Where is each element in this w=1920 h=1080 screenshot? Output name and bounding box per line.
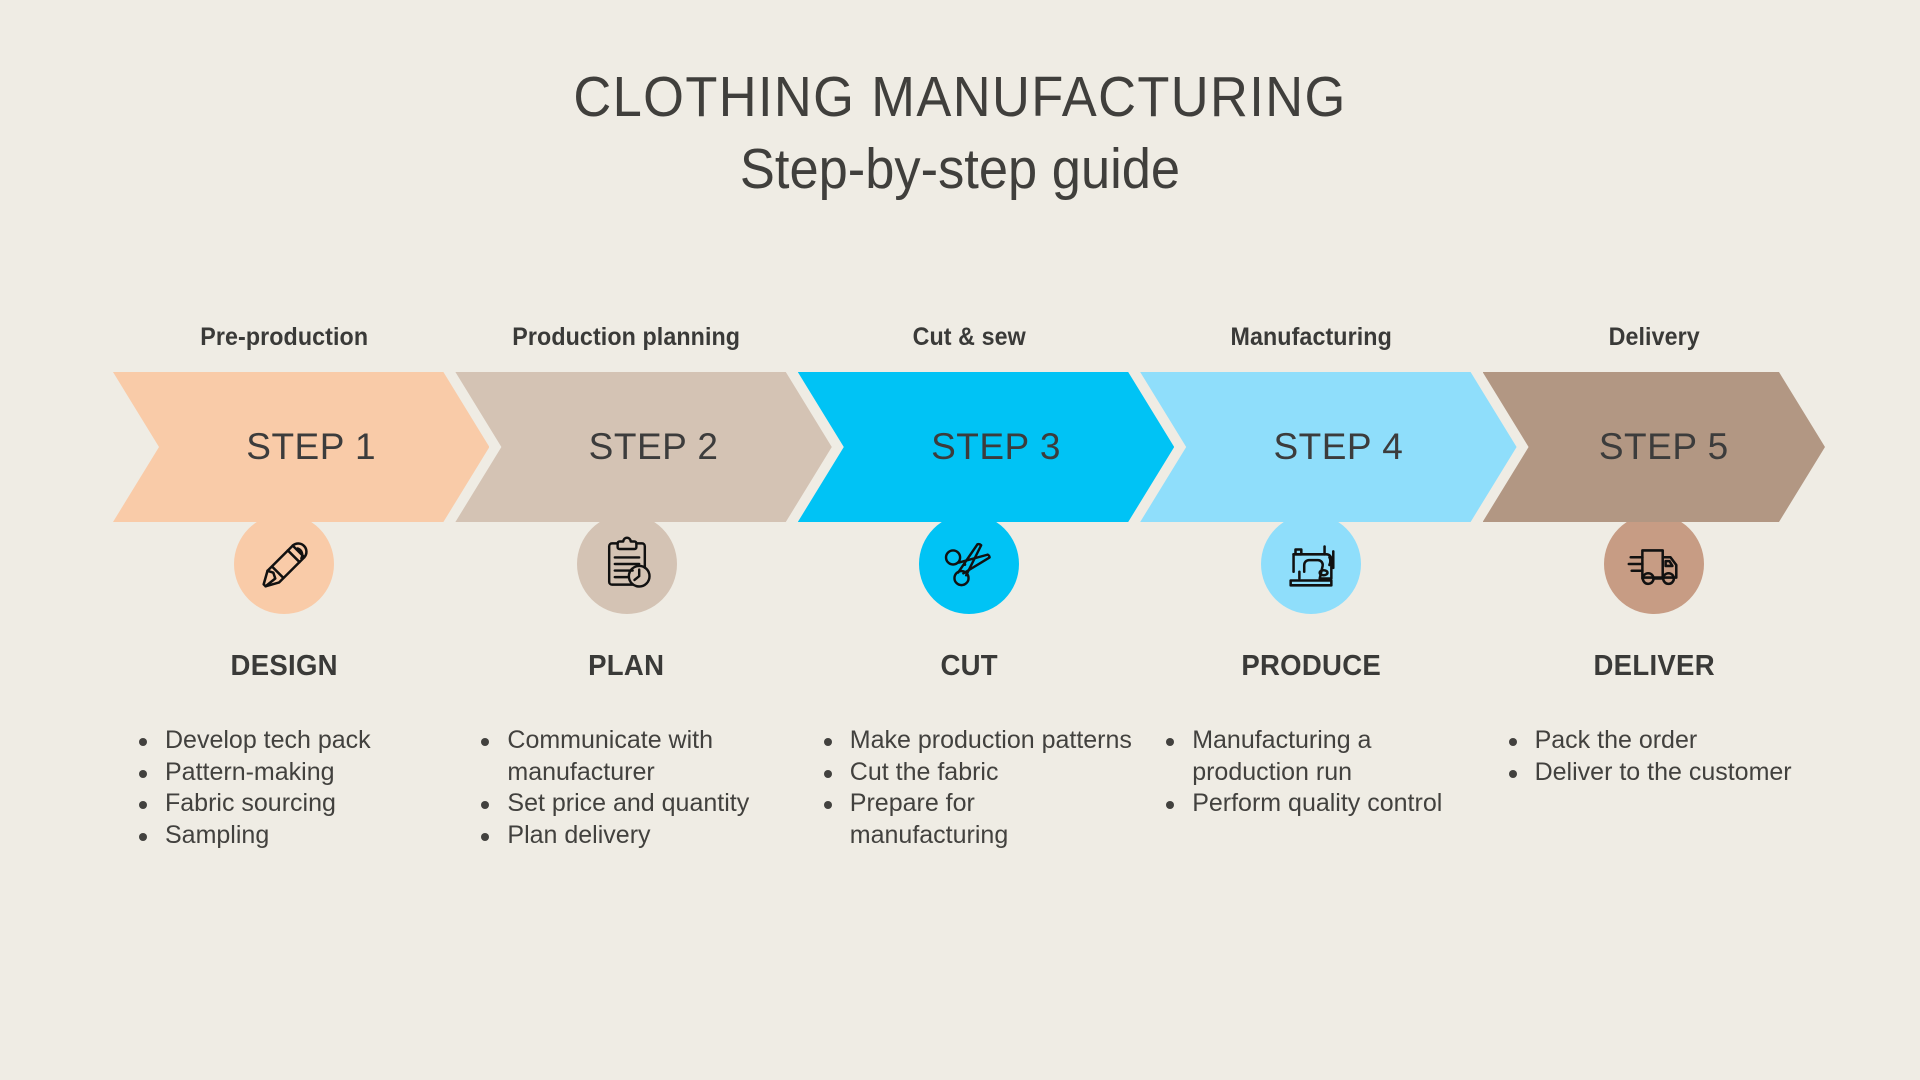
step-action-label: CUT [806,650,1131,683]
step-chevron-1[interactable]: STEP 1 [113,372,489,522]
list-item: Make production patterns [814,725,1140,757]
step-chevron-label: STEP 3 [931,426,1061,468]
step-bullet-list: Manufacturing a production runPerform qu… [1140,725,1482,820]
step-category-label: Cut & sew [810,306,1128,368]
step-chevron-band: STEP 1STEP 2STEP 3STEP 4STEP 5 [113,372,1825,522]
title-line-secondary: Step-by-step guide [77,138,1843,202]
list-item: Sampling [129,820,455,852]
list-item: Deliver to the customer [1499,757,1825,789]
pencil-icon [234,514,334,614]
list-item: Set price and quantity [471,788,797,820]
list-item: Prepare for manufacturing [814,788,1140,851]
scissors-icon [919,514,1019,614]
step-action-label: PRODUCE [1149,650,1474,683]
list-item: Communicate with manufacturer [471,725,797,788]
step-bullet-list: Communicate with manufacturerSet price a… [455,725,797,851]
title-line-primary: CLOTHING MANUFACTURING [77,66,1843,130]
step-chevron-label: STEP 5 [1599,426,1729,468]
list-item: Develop tech pack [129,725,455,757]
step-chevron-3[interactable]: STEP 3 [798,372,1174,522]
step-action-label: DELIVER [1491,650,1816,683]
list-item: Perform quality control [1156,788,1482,820]
list-item: Cut the fabric [814,757,1140,789]
step-category-label: Production planning [467,306,785,368]
step-category-label: Delivery [1495,306,1813,368]
step-bullet-list: Pack the orderDeliver to the customer [1483,725,1825,788]
step-action-label: PLAN [464,650,789,683]
step-chevron-label: STEP 4 [1273,426,1403,468]
step-category-label: Manufacturing [1152,306,1470,368]
step-chevron-4[interactable]: STEP 4 [1140,372,1516,522]
clipboard-clock-icon [577,514,677,614]
step-icon-wrapper [455,514,797,614]
list-item: Pattern-making [129,757,455,789]
step-chevron-5[interactable]: STEP 5 [1483,372,1825,522]
list-item: Pack the order [1499,725,1825,757]
sewing-machine-icon [1261,514,1361,614]
step-category-label: Pre-production [125,306,443,368]
step-bullet-list: Make production patternsCut the fabricPr… [798,725,1140,851]
step-chevron-label: STEP 2 [589,426,719,468]
list-item: Plan delivery [471,820,797,852]
page-title: CLOTHING MANUFACTURING Step-by-step guid… [0,66,1920,202]
step-chevron-2[interactable]: STEP 2 [455,372,831,522]
step-icon-wrapper [1140,514,1482,614]
step-icon-wrapper [1483,514,1825,614]
step-action-label: DESIGN [122,650,447,683]
step-icon-wrapper [798,514,1140,614]
step-bullet-list: Develop tech packPattern-makingFabric so… [113,725,455,851]
list-item: Manufacturing a production run [1156,725,1482,788]
delivery-truck-icon [1604,514,1704,614]
step-icon-wrapper [113,514,455,614]
step-chevron-label: STEP 1 [246,426,376,468]
list-item: Fabric sourcing [129,788,455,820]
